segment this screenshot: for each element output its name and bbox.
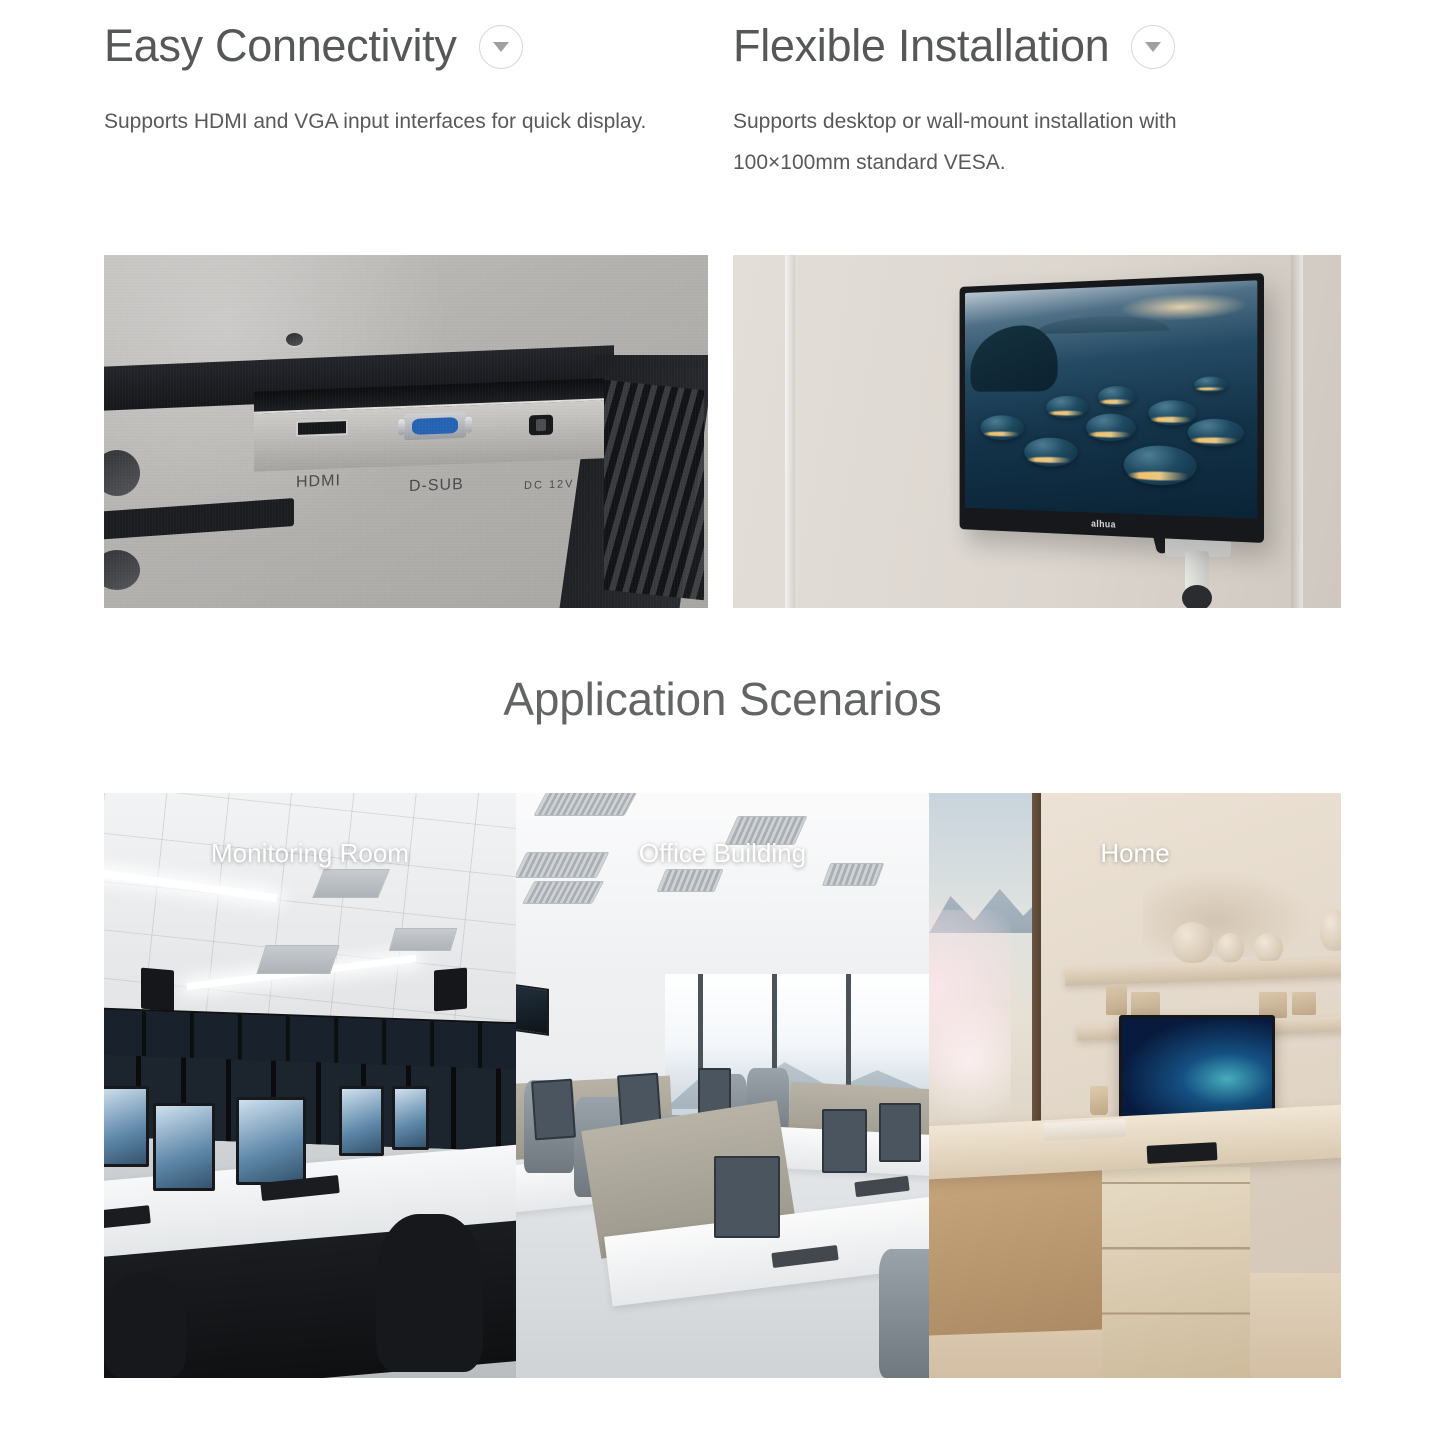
wallpaper-pod: [1188, 418, 1245, 447]
desk-drawers: [1102, 1167, 1250, 1378]
dc-port-label: DC 12V: [524, 478, 575, 492]
keyboard: [854, 1176, 909, 1197]
wall-display: [141, 967, 174, 1011]
vga-port: [404, 412, 466, 440]
operator-monitor: [104, 1086, 149, 1168]
desk-monitor: [714, 1156, 780, 1238]
laptop: [1044, 1118, 1127, 1140]
storage-box: [1259, 992, 1288, 1018]
wallpaper-pod: [981, 415, 1024, 439]
wall-seam-right: [1291, 255, 1303, 608]
wallpaper-headland: [970, 325, 1057, 392]
feature-description: Supports HDMI and VGA input interfaces f…: [104, 102, 664, 143]
ceramic-vase: [1217, 933, 1244, 962]
operator-monitor: [153, 1103, 215, 1191]
monitor-device: alhua: [960, 273, 1264, 543]
home-office-photo: [929, 793, 1341, 1378]
monitor-stand-base: [1147, 1142, 1218, 1163]
hdmi-port: [296, 419, 348, 437]
ceiling-vent: [389, 928, 458, 951]
feature-header: Flexible Installation: [733, 0, 1348, 90]
wall-mounted-monitor-photo: alhua: [733, 255, 1341, 608]
hdmi-port-label: HDMI: [296, 472, 341, 492]
office-chair: [879, 1249, 929, 1378]
wall-mount-knob: [1182, 585, 1212, 608]
monitor-screen: [965, 280, 1257, 518]
ventilation-grille: [604, 380, 704, 601]
scenario-office-building[interactable]: Office Building: [516, 793, 929, 1378]
monitoring-room-photo: [104, 793, 516, 1378]
ceramic-vase: [1172, 922, 1213, 963]
monitor-frame: alhua: [960, 273, 1264, 543]
feature-columns: Easy Connectivity Supports HDMI and VGA …: [0, 0, 1445, 250]
wallpaper-pod: [1086, 413, 1136, 441]
chevron-down-icon[interactable]: [479, 25, 523, 69]
wallpaper-pod: [1098, 386, 1136, 407]
feature-description: Supports desktop or wall-mount installat…: [733, 102, 1293, 184]
stand-hole-secondary: [104, 550, 140, 590]
ceiling-vent: [312, 869, 390, 898]
feature-image-ports: HDMI D-SUB DC 12V: [104, 255, 708, 608]
screw-detail: [286, 333, 303, 346]
feature-image-wallmount: alhua: [733, 255, 1341, 608]
scenario-label: Home: [929, 838, 1341, 869]
feature-block-easy-connectivity: Easy Connectivity Supports HDMI and VGA …: [104, 0, 714, 143]
ceiling-vent: [256, 945, 340, 974]
wallpaper-pod: [1194, 376, 1229, 393]
wallpaper-pod: [1148, 400, 1197, 426]
office-chair: [376, 1214, 483, 1372]
feature-title: Easy Connectivity: [104, 23, 457, 68]
monitor-bezel-edge: [104, 345, 614, 411]
cherry-blossom-tree: [929, 992, 1011, 1144]
scenario-gallery: Monitoring Room: [104, 793, 1341, 1378]
ceramic-vase: [1254, 933, 1283, 962]
storage-box: [1106, 986, 1127, 1015]
dsub-port-label: D-SUB: [409, 476, 464, 496]
port-recess-shadow: [254, 378, 604, 419]
ceiling-vent: [533, 793, 639, 816]
desk-monitor: [531, 1078, 576, 1139]
port-recess-panel: [254, 398, 604, 471]
scenario-label: Office Building: [516, 838, 929, 869]
desk-monitor: [822, 1109, 867, 1173]
chevron-down-glyph: [492, 41, 510, 53]
dc-power-port: [529, 415, 553, 436]
ceramic-vase: [1320, 910, 1341, 951]
feature-title: Flexible Installation: [733, 23, 1109, 68]
chevron-down-icon[interactable]: [1131, 25, 1175, 69]
storage-box: [1292, 992, 1317, 1015]
desk-monitor: [879, 1103, 920, 1162]
pencil-cup: [1090, 1086, 1109, 1115]
product-feature-page: Easy Connectivity Supports HDMI and VGA …: [0, 0, 1445, 1445]
wall-display: [516, 983, 549, 1036]
wallpaper-pod: [1024, 438, 1077, 468]
feature-block-flexible-installation: Flexible Installation Supports desktop o…: [733, 0, 1348, 184]
operator-monitor: [339, 1086, 384, 1156]
stand-hole: [104, 450, 140, 496]
feature-images: HDMI D-SUB DC 12V: [0, 255, 1445, 608]
stand-foot: [104, 498, 294, 540]
scenario-home[interactable]: Home: [929, 793, 1341, 1378]
feature-header: Easy Connectivity: [104, 0, 714, 90]
scenario-label: Monitoring Room: [104, 838, 516, 869]
wallpaper-pod: [1124, 445, 1197, 486]
monitor-ports-photo: HDMI D-SUB DC 12V: [104, 255, 708, 608]
office-building-photo: [516, 793, 929, 1378]
ceiling-vent: [522, 881, 605, 904]
section-title-application-scenarios: Application Scenarios: [0, 672, 1445, 726]
wallpaper-pod: [1046, 396, 1089, 418]
wall-seam-left: [785, 255, 795, 608]
office-chair: [104, 1273, 186, 1378]
storage-box: [1131, 992, 1160, 1018]
ceiling-vent: [656, 869, 723, 892]
wall-display: [434, 967, 467, 1011]
operator-monitor: [392, 1086, 429, 1150]
operator-monitor: [236, 1097, 306, 1185]
chevron-down-glyph: [1144, 41, 1162, 53]
brand-logo: alhua: [1091, 519, 1116, 530]
scenario-monitoring-room[interactable]: Monitoring Room: [104, 793, 516, 1378]
monitor-side-bezel: [553, 355, 708, 608]
